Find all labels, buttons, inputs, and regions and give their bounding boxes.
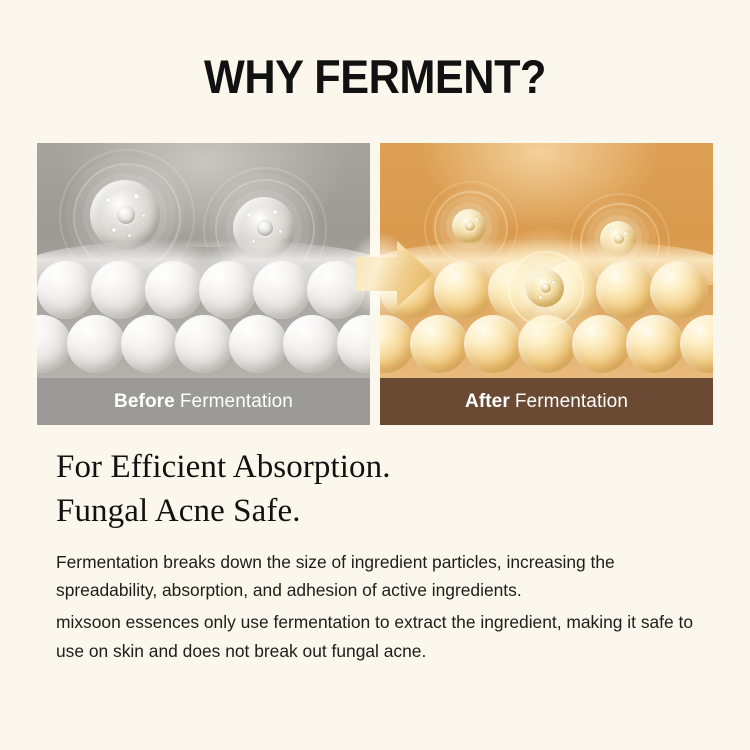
barrier-sphere: [337, 315, 370, 373]
after-illustration: [380, 143, 713, 378]
ingredient-particle-penetrating: [526, 269, 564, 307]
particle-bubble: [247, 213, 251, 217]
paragraph-1: Fermentation breaks down the size of ing…: [56, 548, 716, 604]
before-illustration: [37, 143, 370, 378]
particle-bubble: [460, 217, 463, 220]
barrier-sphere: [253, 261, 311, 319]
ingredient-particle-small: [452, 209, 486, 243]
barrier-sphere: [91, 261, 149, 319]
barrier-sphere: [650, 261, 708, 319]
particle-bubble: [134, 194, 139, 199]
page-title: WHY FERMENT?: [30, 52, 720, 101]
barrier-sphere: [175, 315, 233, 373]
particle-bubble: [609, 230, 612, 233]
particle-core: [117, 206, 135, 224]
barrier-sphere: [229, 315, 287, 373]
particle-core: [257, 220, 273, 236]
paragraph-2: mixsoon essences only use fermentation t…: [56, 608, 716, 664]
particle-bubble: [475, 218, 478, 221]
particle-bubble: [279, 230, 282, 233]
particle-bubble: [535, 278, 538, 281]
barrier-sphere: [37, 261, 95, 319]
particle-bubble: [112, 228, 116, 232]
barrier-sphere: [307, 261, 365, 319]
particle-bubble: [624, 232, 627, 235]
panel-before-fermentation: Before Fermentation: [37, 143, 370, 425]
body-copy: Fermentation breaks down the size of ing…: [56, 548, 716, 665]
barrier-sphere: [121, 315, 179, 373]
particle-bubble: [128, 234, 131, 237]
barrier-sphere: [67, 315, 125, 373]
barrier-sphere: [283, 315, 341, 373]
barrier-sphere: [37, 315, 71, 373]
skin-barrier-row-bottom: [37, 315, 346, 373]
particle-bubble: [142, 214, 145, 217]
barrier-sphere: [596, 261, 654, 319]
particle-bubble: [273, 210, 277, 214]
caption-before-emphasis: Before: [114, 391, 175, 413]
panel-after-fermentation: After Fermentation: [380, 143, 713, 425]
particle-bubble: [106, 198, 110, 202]
particle-bubble: [552, 281, 555, 284]
barrier-sphere: [434, 261, 492, 319]
barrier-sphere: [380, 261, 438, 319]
particle-core: [541, 283, 551, 293]
barrier-sphere: [572, 315, 630, 373]
headline-line-2: Fungal Acne Safe.: [56, 490, 696, 534]
caption-after-emphasis: After: [465, 391, 510, 413]
particle-bubble: [539, 296, 542, 299]
caption-before: Before Fermentation: [37, 378, 370, 425]
particle-core: [465, 221, 475, 231]
barrier-sphere: [464, 315, 522, 373]
caption-after: After Fermentation: [380, 378, 713, 425]
barrier-sphere: [626, 315, 684, 373]
headline-line-1: For Efficient Absorption.: [56, 446, 696, 490]
caption-after-rest: Fermentation: [515, 391, 628, 413]
skin-barrier-row-top: [37, 261, 370, 319]
caption-before-rest: Fermentation: [180, 391, 293, 413]
before-after-comparison: Before Fermentation: [37, 143, 713, 425]
headline: For Efficient Absorption. Fungal Acne Sa…: [56, 446, 696, 534]
barrier-sphere: [199, 261, 257, 319]
barrier-sphere: [145, 261, 203, 319]
barrier-sphere: [380, 315, 414, 373]
barrier-sphere: [410, 315, 468, 373]
barrier-sphere: [680, 315, 713, 373]
